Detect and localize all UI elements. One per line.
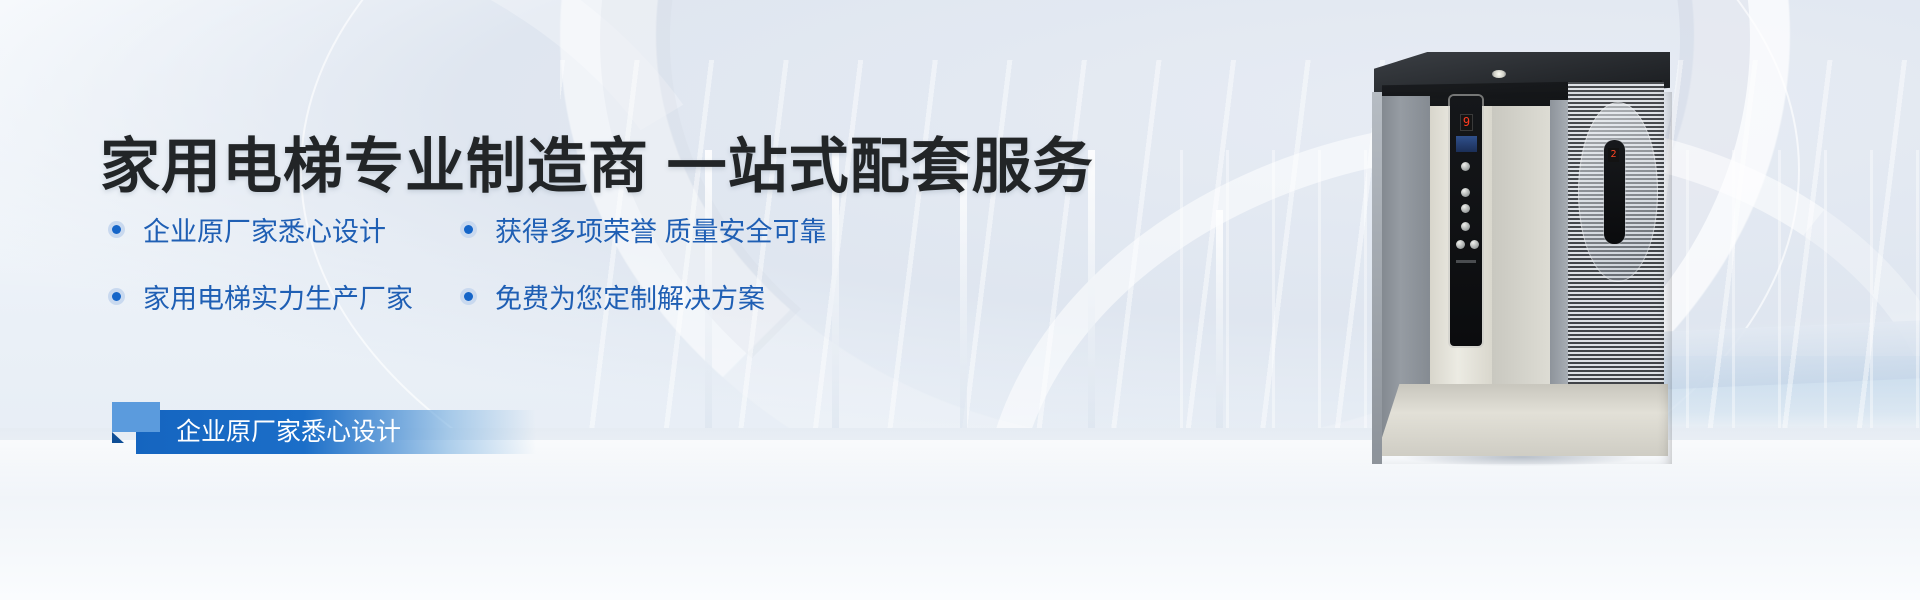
page-title: 家用电梯专业制造商 一站式配套服务 (100, 118, 1094, 205)
feature-list: 企业原厂家悉心设计 获得多项荣誉 质量安全可靠 家用电梯实力生产厂家 免费为您定… (108, 210, 868, 344)
bullet-dot-icon (460, 288, 477, 305)
feature-item-1: 企业原厂家悉心设计 (108, 210, 460, 249)
door-close-button[interactable] (1470, 240, 1479, 249)
floor-indicator-display-secondary: 2 (1608, 148, 1619, 162)
background-pillar (1216, 210, 1223, 440)
feature-label: 家用电梯实力生产厂家 (143, 277, 413, 316)
bullet-dot-icon (460, 221, 477, 238)
floor-button[interactable] (1461, 188, 1470, 197)
control-panel-brand-plate (1456, 136, 1477, 152)
cabin-floor (1376, 384, 1668, 456)
bullet-dot-icon (108, 221, 125, 238)
feature-item-2: 获得多项荣誉 质量安全可靠 (460, 210, 827, 249)
floor-button[interactable] (1461, 222, 1470, 231)
feature-item-3: 家用电梯实力生产厂家 (108, 277, 460, 316)
floor-button[interactable] (1461, 204, 1470, 213)
feature-row: 企业原厂家悉心设计 获得多项荣誉 质量安全可靠 (108, 210, 868, 249)
tag-accent-shape (112, 402, 160, 432)
control-panel-vent (1456, 260, 1476, 263)
alarm-button[interactable] (1456, 240, 1465, 249)
feature-item-4: 免费为您定制解决方案 (460, 277, 765, 316)
bullet-dot-icon (108, 288, 125, 305)
highlight-tag-bar: 企业原厂家悉心设计 (136, 410, 536, 454)
door-open-button[interactable] (1461, 162, 1470, 171)
feature-row: 家用电梯实力生产厂家 免费为您定制解决方案 (108, 277, 868, 316)
control-panel (1450, 96, 1482, 346)
floor-indicator-display: 9 (1460, 114, 1473, 131)
feature-label: 获得多项荣誉 质量安全可靠 (495, 210, 827, 249)
feature-label: 免费为您定制解决方案 (495, 277, 765, 316)
product-image-elevator: 9 2 (1372, 52, 1672, 472)
tag-label: 企业原厂家悉心设计 (176, 410, 401, 454)
promo-banner: 家用电梯专业制造商 一站式配套服务 企业原厂家悉心设计 获得多项荣誉 质量安全可… (0, 0, 1920, 600)
ceiling-light-icon (1492, 70, 1506, 78)
feature-label: 企业原厂家悉心设计 (143, 210, 386, 249)
